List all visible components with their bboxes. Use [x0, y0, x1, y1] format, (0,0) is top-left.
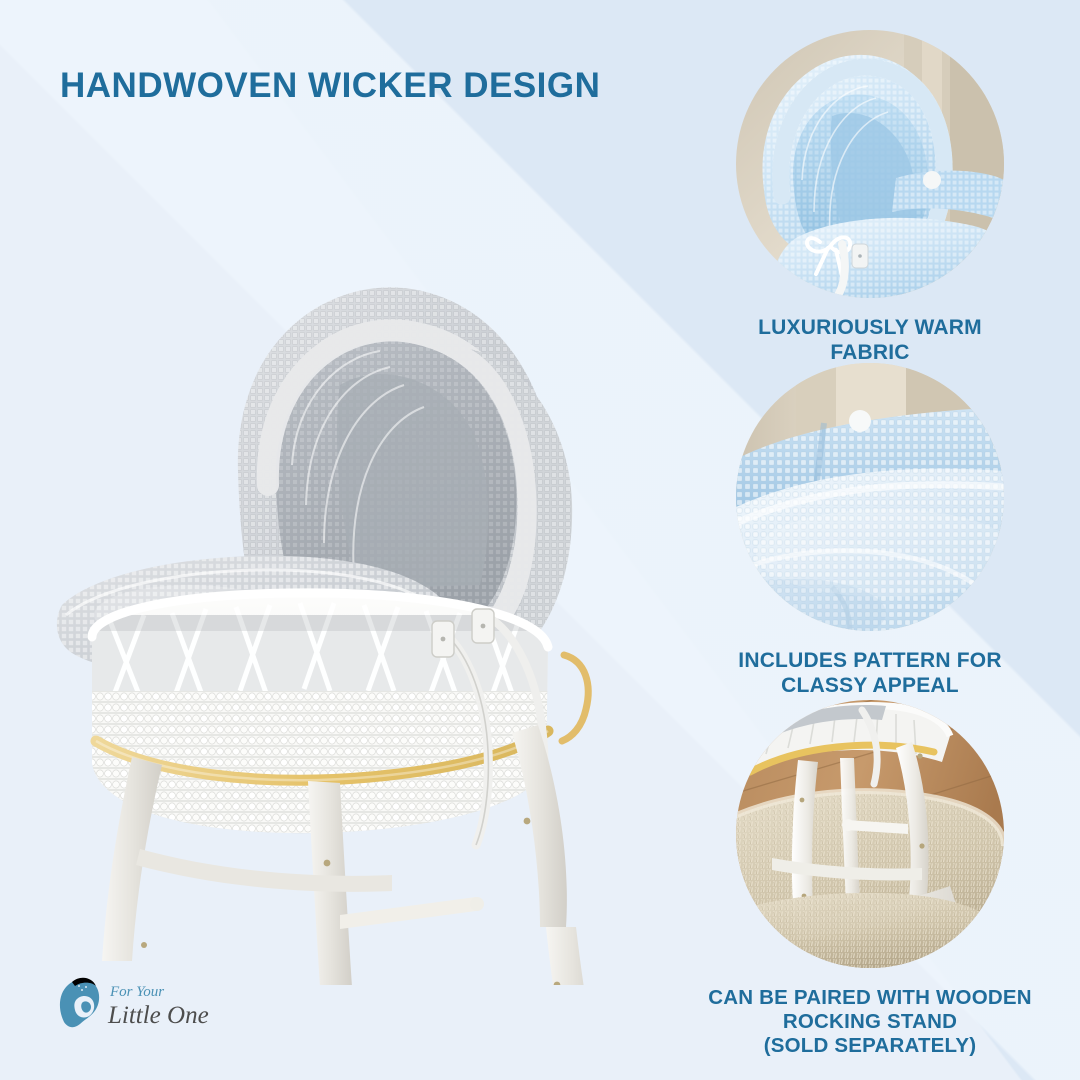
- caption-line: CLASSY APPEAL: [660, 674, 1080, 699]
- blue-waffle-fabric-texture-photo: [736, 363, 1004, 631]
- feature-caption: CAN BE PAIRED WITH WOODEN ROCKING STAND …: [660, 986, 1080, 1058]
- infographic-canvas: HANDWOVEN WICKER DESIGN: [0, 0, 1080, 1080]
- feature-rail: LUXURIOUSLY WARM FABRIC: [660, 0, 1080, 1080]
- mother-baby-icon: [60, 978, 99, 1027]
- feature-caption: LUXURIOUSLY WARM FABRIC: [660, 316, 1080, 365]
- feature-warm-fabric: LUXURIOUSLY WARM FABRIC: [660, 30, 1080, 365]
- brand-logo[interactable]: For Your Little One: [50, 968, 230, 1042]
- feature-pattern: INCLUDES PATTERN FOR CLASSY APPEAL: [660, 363, 1080, 698]
- caption-line: (SOLD SEPARATELY): [660, 1034, 1080, 1058]
- logo-line-2: Little One: [107, 1002, 209, 1029]
- feature-rocking-stand: CAN BE PAIRED WITH WOODEN ROCKING STAND …: [660, 700, 1080, 1058]
- page-title: HANDWOVEN WICKER DESIGN: [60, 66, 600, 106]
- caption-line: LUXURIOUSLY WARM: [660, 316, 1080, 341]
- hero-product-image: [40, 185, 660, 985]
- feature-caption: INCLUDES PATTERN FOR CLASSY APPEAL: [660, 649, 1080, 698]
- logo-line-1: For Your: [109, 984, 164, 1000]
- caption-line: CAN BE PAIRED WITH WOODEN: [660, 986, 1080, 1010]
- caption-line: INCLUDES PATTERN FOR: [660, 649, 1080, 674]
- white-rocking-stand-photo: [736, 700, 1004, 968]
- caption-line: FABRIC: [660, 341, 1080, 366]
- blue-moses-basket-hood-photo: [736, 30, 1004, 298]
- caption-line: ROCKING STAND: [660, 1010, 1080, 1034]
